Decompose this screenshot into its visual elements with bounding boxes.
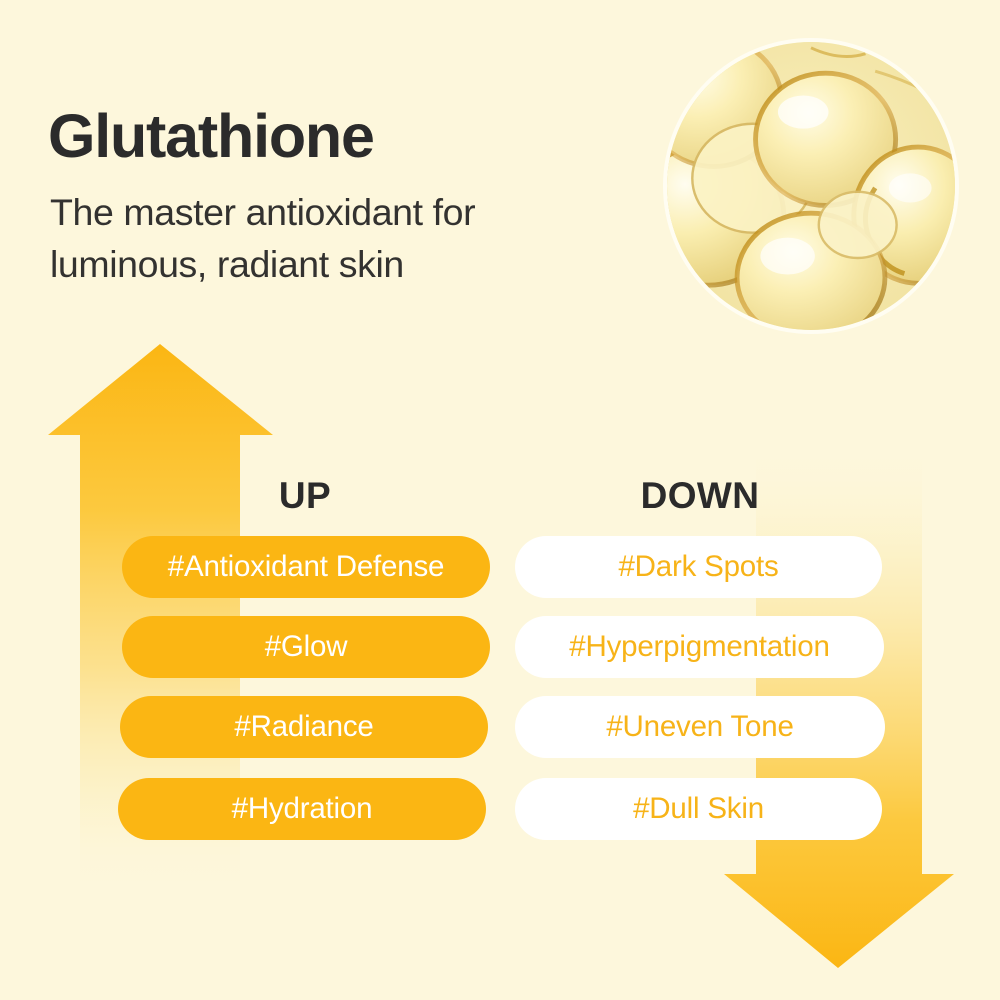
pill-down-3-label: #Uneven Tone bbox=[606, 710, 793, 744]
pill-up-2-label: #Glow bbox=[265, 630, 348, 664]
page-subtitle: The master antioxidant for luminous, rad… bbox=[50, 186, 590, 290]
pill-up-2[interactable]: #Glow bbox=[122, 616, 490, 678]
pill-down-3[interactable]: #Uneven Tone bbox=[515, 696, 885, 758]
pill-up-3-label: #Radiance bbox=[234, 710, 373, 744]
pill-up-1[interactable]: #Antioxidant Defense bbox=[122, 536, 490, 598]
infographic-canvas: Glutathione The master antioxidant for l… bbox=[0, 0, 1000, 1000]
subtitle-line-2: luminous, radiant skin bbox=[50, 238, 590, 290]
pill-down-1-label: #Dark Spots bbox=[618, 550, 778, 584]
pill-down-2-label: #Hyperpigmentation bbox=[569, 630, 829, 664]
pill-down-1[interactable]: #Dark Spots bbox=[515, 536, 882, 598]
page-title: Glutathione bbox=[48, 106, 374, 167]
subtitle-line-1: The master antioxidant for bbox=[50, 186, 590, 238]
photo-inner bbox=[667, 42, 955, 330]
pill-down-2[interactable]: #Hyperpigmentation bbox=[515, 616, 884, 678]
pill-up-4[interactable]: #Hydration bbox=[118, 778, 486, 840]
column-heading-up: UP bbox=[205, 475, 405, 517]
serum-capsules-photo bbox=[663, 38, 959, 334]
pill-down-4[interactable]: #Dull Skin bbox=[515, 778, 882, 840]
pill-up-3[interactable]: #Radiance bbox=[120, 696, 488, 758]
capsules-illustration bbox=[667, 42, 955, 330]
pill-down-4-label: #Dull Skin bbox=[633, 792, 764, 826]
pill-up-1-label: #Antioxidant Defense bbox=[168, 550, 444, 584]
pill-up-4-label: #Hydration bbox=[232, 792, 373, 826]
column-heading-down: DOWN bbox=[600, 475, 800, 517]
